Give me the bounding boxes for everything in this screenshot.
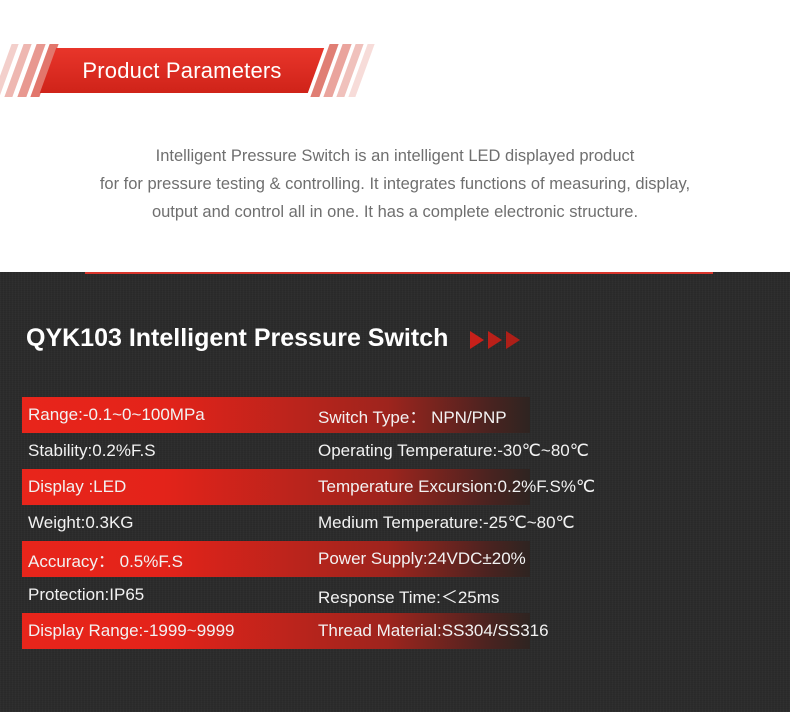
spec-row: Stability:0.2%F.S Operating Temperature:…: [0, 433, 790, 469]
specifications-section: QYK103 Intelligent Pressure Switch Range…: [0, 272, 790, 712]
arrow-group: [470, 331, 520, 349]
spec-right-label: Power Supply:24VDC±20%: [318, 549, 526, 569]
intro-line-1: Intelligent Pressure Switch is an intell…: [0, 142, 790, 170]
spec-left-label: Range:-0.1~0~100MPa: [28, 405, 205, 425]
spec-right-label: Thread Material:SS304/SS316: [318, 621, 549, 641]
intro-line-3: output and control all in one. It has a …: [0, 198, 790, 226]
product-heading-row: QYK103 Intelligent Pressure Switch: [26, 324, 520, 353]
spec-right-label: Response Time:＜25ms: [318, 583, 499, 608]
spec-table: Range:-0.1~0~100MPa Switch Type： NPN/PNP…: [0, 397, 790, 649]
product-title: QYK103 Intelligent Pressure Switch: [26, 324, 448, 353]
product-parameters-banner: Product Parameters: [0, 48, 380, 93]
spec-left-label: Weight:0.3KG: [28, 513, 134, 533]
spec-left-label: Display :LED: [28, 477, 126, 497]
intro-paragraph: Intelligent Pressure Switch is an intell…: [0, 142, 790, 226]
spec-row: Display Range:-1999~9999 Thread Material…: [0, 613, 790, 649]
spec-row: Protection:IP65 Response Time:＜25ms: [0, 577, 790, 613]
spec-left-label: Accuracy： 0.5%F.S: [28, 547, 183, 572]
spec-row: Range:-0.1~0~100MPa Switch Type： NPN/PNP: [0, 397, 790, 433]
spec-row: Display :LED Temperature Excursion:0.2%F…: [0, 469, 790, 505]
spec-row: Weight:0.3KG Medium Temperature:-25℃~80℃: [0, 505, 790, 541]
spec-left-label: Display Range:-1999~9999: [28, 621, 235, 641]
spec-right-label: Medium Temperature:-25℃~80℃: [318, 513, 575, 533]
section-divider-rule: [85, 272, 713, 274]
spec-left-label: Stability:0.2%F.S: [28, 441, 156, 461]
spec-right-label: Switch Type： NPN/PNP: [318, 403, 507, 428]
triangle-right-icon: [488, 331, 502, 349]
banner-title: Product Parameters: [48, 48, 316, 93]
triangle-right-icon: [506, 331, 520, 349]
intro-section: Product Parameters Intelligent Pressure …: [0, 0, 790, 272]
triangle-right-icon: [470, 331, 484, 349]
spec-left-label: Protection:IP65: [28, 585, 144, 605]
intro-line-2: for for pressure testing & controlling. …: [0, 170, 790, 198]
spec-row: Accuracy： 0.5%F.S Power Supply:24VDC±20%: [0, 541, 790, 577]
spec-right-label: Temperature Excursion:0.2%F.S%℃: [318, 477, 595, 497]
spec-right-label: Operating Temperature:-30℃~80℃: [318, 441, 589, 461]
